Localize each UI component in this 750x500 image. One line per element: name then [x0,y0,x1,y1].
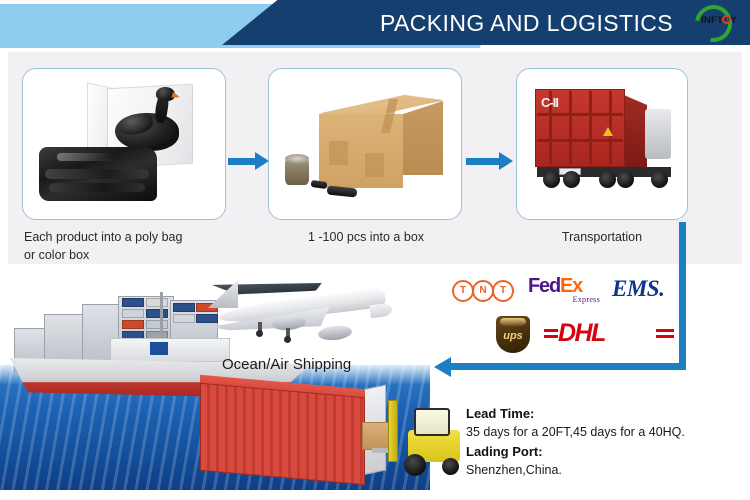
airplane-nose [369,303,392,319]
logo-o-circle-icon [722,15,731,24]
dhl-dash [656,335,674,338]
container-marking: C-II [541,95,558,110]
brand-logo: INFTOY [693,3,743,43]
tape-roll-top [285,154,309,163]
truck-wheel [563,171,580,188]
step-caption-carton: 1 -100 pcs into a box [268,228,464,246]
carton-side [403,101,443,175]
step-caption-packaging: Each product into a poly bag or color bo… [24,228,239,264]
truck-wheel [617,171,634,188]
ship-container [122,309,144,318]
arrow-shaft [466,158,500,165]
lading-port-label: Lading Port: [466,442,746,461]
container-lock-bar [589,91,592,165]
container-lock-bar [569,91,572,165]
forklift-cab [414,408,450,436]
truck-container-side [624,95,647,167]
ship-bridge [110,338,230,362]
tnt-logo: T N T [452,280,518,304]
ship-container [146,309,168,318]
fedex-logo: FedEx Express [528,276,600,306]
ship-container [122,298,144,307]
carton-symbol-label [365,153,384,177]
flow-arrow-2-icon [466,152,516,170]
shipping-info: Lead Time: 35 days for a 20FT,45 days fo… [466,404,746,480]
step-caption-transportation: Transportation [516,228,688,246]
truck-wheel [651,171,668,188]
ups-wordmark: ups [496,330,530,342]
dhl-dash [544,335,558,338]
ems-logo: EMS. [612,276,664,302]
arrow-head [499,152,513,170]
ship-container [173,314,195,323]
tnt-letter-circle: T [452,280,474,302]
step-card-carton [268,68,462,220]
marker-cap [311,180,328,189]
forklift-wheel [404,454,426,476]
arrow-shaft [228,158,256,165]
step-caption-line: or color box [24,246,239,264]
dhl-dash [656,329,674,332]
ups-shield-highlight [500,318,526,327]
tnt-letter-circle: N [472,280,494,302]
ship-container [146,320,168,329]
step-card-packaging [22,68,226,220]
ship-container [146,298,168,307]
ship-container [173,303,195,312]
forklift-wheel [442,458,459,475]
container-cross-bar [537,139,623,142]
ship-funnel-logo [150,342,168,355]
scene-label: Ocean/Air Shipping [222,356,351,373]
flow-arrow-1-icon [228,152,270,170]
page-title: PACKING AND LOGISTICS [380,8,680,38]
logo-text: INFTOY [696,15,742,26]
arrow-head [255,152,269,170]
fedex-fed-text: Fed [528,275,560,297]
page-header: PACKING AND LOGISTICS INFTOY [0,0,750,52]
airplane-engine [317,324,352,341]
ship-container [122,320,144,329]
poly-bag-fold [49,183,145,192]
poly-bag-fold [45,169,149,179]
step-caption-line: Each product into a poly bag [24,228,239,246]
ship-container [196,314,218,323]
marker-pen [327,185,358,197]
truck-wheel [599,171,616,188]
dhl-wordmark: DHL [558,319,605,348]
lading-port-value: Shenzhen,China. [466,461,746,480]
truck-cab [645,109,671,159]
tnt-letter-circle: T [492,280,514,302]
fedex-ex-text: Ex [560,275,582,297]
ups-logo: ups [496,316,530,354]
airplane-wheel [256,330,263,337]
airplane-wheel [284,336,291,343]
carton-symbol-label [329,141,348,165]
poly-bag-highlight [57,153,115,161]
fedex-wordmark: FedEx [528,276,600,296]
lead-time-label: Lead Time: [466,404,746,423]
ground-red-container [200,383,365,485]
container-cross-bar [537,113,623,116]
ship-mast [160,292,163,340]
hazard-triangle-icon [603,127,613,136]
dhl-dash [544,329,558,332]
forklift-mast [388,400,398,462]
dhl-logo: DHL [544,320,676,348]
step-card-transportation: C-II [516,68,688,220]
truck-wheel [543,171,560,188]
courier-logos: T N T FedEx Express EMS. ups DHL [452,276,684,362]
lead-time-value: 35 days for a 20FT,45 days for a 40HQ. [466,423,746,442]
